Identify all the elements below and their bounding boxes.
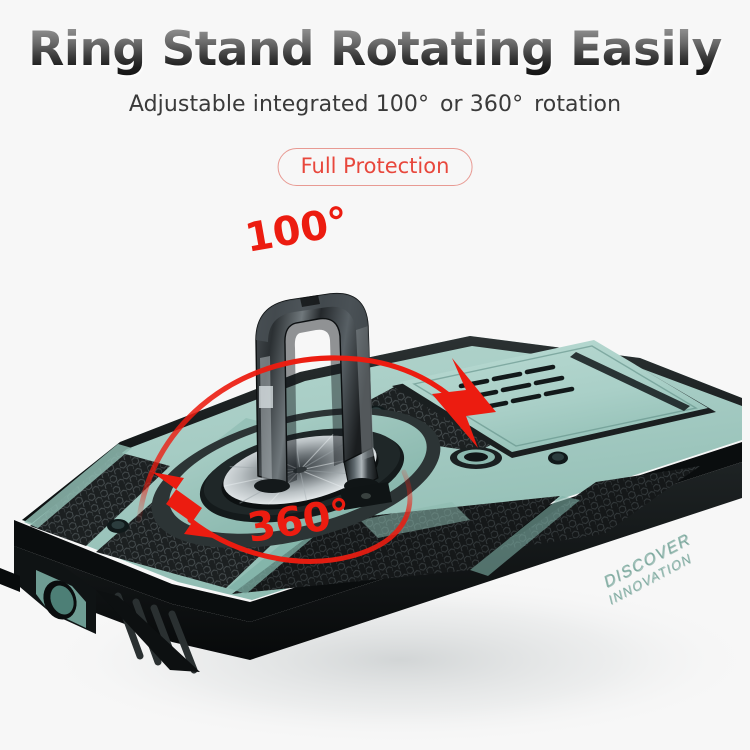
degree-symbol-1: ° bbox=[418, 92, 429, 117]
page-title: Ring Stand Rotating Easily bbox=[0, 22, 750, 77]
status-badge: Full Protection bbox=[278, 148, 473, 186]
degree-symbol-2: ° bbox=[512, 92, 523, 117]
ring-arch-left-highlight bbox=[260, 356, 272, 490]
ring-arch-foot-left bbox=[254, 479, 290, 493]
subtitle-lead: Adjustable integrated 100 bbox=[129, 92, 418, 117]
product-marketing-image: Ring Stand Rotating Easily Adjustable in… bbox=[0, 0, 750, 750]
page-subtitle: Adjustable integrated 100°or 360°rotatio… bbox=[0, 92, 750, 117]
ring-pivot-screw bbox=[361, 493, 371, 499]
arc-100-label: 100° bbox=[242, 199, 352, 262]
product-illustration: DISCOVER DISCOVER INNOVATION INNOVATION bbox=[0, 190, 750, 750]
magnet-hole-core bbox=[464, 452, 488, 461]
subtitle-tail: rotation bbox=[534, 92, 621, 117]
embossed-brand: DISCOVER DISCOVER INNOVATION INNOVATION bbox=[603, 529, 697, 609]
subtitle-middle: or 360 bbox=[440, 92, 512, 117]
ring-arch-left-specular bbox=[259, 386, 273, 408]
